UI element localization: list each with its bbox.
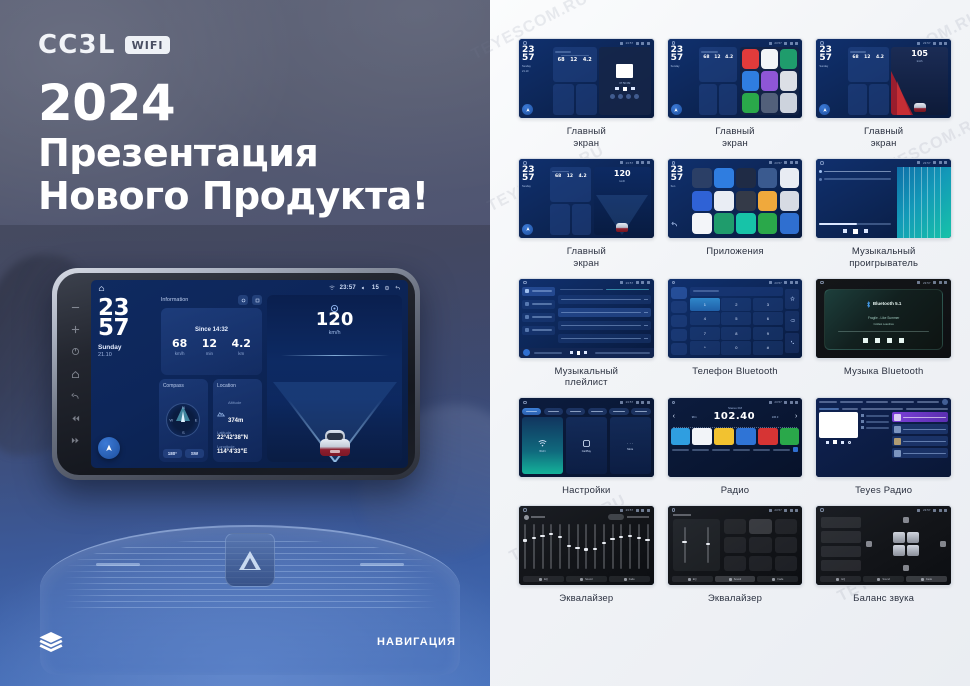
- thumb-equalizer-presets[interactable]: 23:57: [667, 505, 804, 586]
- layers-icon: [38, 631, 64, 653]
- nav-caption: НАВИГАЦИЯ: [377, 636, 456, 648]
- thumb-home-screen-media[interactable]: 23:57 2357Sunday21.10 68124.2: [518, 38, 655, 119]
- volume-plus-key[interactable]: [71, 325, 80, 334]
- tile-connection[interactable]: CarPlay: [566, 417, 607, 474]
- compass-readouts: 180° SW: [163, 449, 204, 458]
- eq-tab-fade[interactable]: Fade: [906, 576, 947, 582]
- preset-5[interactable]: [758, 428, 778, 445]
- thumb-home-screen-drive[interactable]: 23:57 2357Sunday 68124.2: [815, 38, 952, 119]
- settings-tabs[interactable]: [519, 406, 654, 417]
- headline-year: 2024: [38, 78, 458, 128]
- navigation-arrow-icon: [104, 443, 114, 453]
- grid-item[interactable]: 23:57 2357Sunday 68124.2: [815, 38, 952, 150]
- grid-item[interactable]: 23:57: [815, 505, 952, 605]
- thumb-music-player[interactable]: 23:57: [815, 158, 952, 239]
- head-unit-screen[interactable]: 23:57 15 23: [91, 280, 408, 468]
- thumb-caption: Главный экран: [567, 246, 606, 270]
- speed-limit-icon: [330, 300, 339, 309]
- drive-speed-105: 105: [891, 50, 948, 58]
- dashboard-scene: 23:57 15 23: [0, 225, 490, 686]
- altitude-label: Altitude: [228, 400, 241, 405]
- grid-item[interactable]: 23:57 2357Sun: [667, 158, 804, 270]
- prev-station-button[interactable]: ‹: [673, 413, 675, 420]
- link-icon: [582, 439, 591, 448]
- thumb-caption: Главный экран: [864, 126, 903, 150]
- prev-track-key[interactable]: [71, 414, 80, 423]
- presentation-slide: CC3L WIFI 2024 Презентация Нового Продук…: [0, 0, 970, 686]
- latitude-value: 22°42'38"N: [217, 435, 258, 441]
- driving-view-widget[interactable]: 120 km/h: [267, 295, 402, 462]
- back-arrow-icon[interactable]: [395, 285, 401, 291]
- grid-item[interactable]: 23:57 2357Sunday 68124.2: [667, 38, 804, 150]
- stop-icon: [887, 338, 892, 343]
- tab-display[interactable]: [566, 408, 585, 415]
- dashboard-vent-panel: [40, 525, 460, 675]
- tile-more[interactable]: · · · More: [610, 417, 651, 474]
- home-key[interactable]: [71, 370, 80, 379]
- status-bar: 23:57 15: [91, 280, 408, 295]
- clock-day: Sunday: [98, 344, 154, 351]
- drive-speed-unit: km/h: [267, 330, 402, 336]
- preset-3[interactable]: [714, 428, 734, 445]
- thumb-radio[interactable]: 23:57 Stereo FM ‹ 98.1 102.40 106.3 ›: [667, 397, 804, 478]
- grid-item[interactable]: 23:57: [815, 158, 952, 270]
- volume-icon: [361, 285, 367, 291]
- head-unit-side-keys: [65, 280, 85, 468]
- since-label: Since 14:32: [195, 327, 228, 333]
- stat-distance-unit: km: [231, 351, 251, 356]
- headline-line1: Презентация: [38, 132, 458, 175]
- trip-stats: 68 km/h 12 min: [165, 338, 258, 356]
- hazard-lights-button[interactable]: [225, 533, 275, 587]
- thumb-caption: Телефон Bluetooth: [692, 366, 778, 378]
- drive-hud: 120 km/h: [267, 300, 402, 336]
- radio-frequency: 102.40: [713, 411, 755, 422]
- compass-dial-wrap: N S E W: [163, 391, 204, 449]
- navigation-button-wrap: [98, 379, 154, 462]
- bluetooth-transport-controls[interactable]: [863, 338, 904, 343]
- location-altitude-row: Altitude 374m: [217, 391, 258, 427]
- balance-right-button[interactable]: [940, 541, 946, 547]
- location-widget[interactable]: Location Altitude 374m: [213, 379, 262, 462]
- eq-tab-fade[interactable]: Fade: [757, 576, 798, 582]
- location-latitude-row: Latitude 22°42'38"N: [217, 430, 258, 441]
- refresh-icon[interactable]: [238, 295, 248, 305]
- seat-diagram: [893, 532, 919, 556]
- headline-block: 2024 Презентация Нового Продукта!: [38, 78, 458, 218]
- clock-and-info-row: 23 57 Sunday 21.10 Information: [98, 295, 262, 375]
- equalizer-tabs[interactable]: EQ Sound Fade: [668, 575, 803, 585]
- screen-body: 23 57 Sunday 21.10 Information: [91, 295, 408, 468]
- stat-speed-unit: km/h: [172, 351, 187, 356]
- next-station-button[interactable]: ›: [795, 413, 797, 420]
- grid-item[interactable]: 23:57 Wi-Fi: [518, 397, 655, 497]
- preset-1[interactable]: [671, 428, 691, 445]
- thumb-caption: Эквалайзер: [559, 593, 613, 605]
- grid-item[interactable]: 23:57 Stereo FM ‹ 98.1 102.40 106.3 ›: [667, 397, 804, 497]
- tab-system[interactable]: [588, 408, 607, 415]
- wifi-badge: WIFI: [125, 36, 171, 54]
- horizon-line: [281, 355, 389, 356]
- thumb-bluetooth-music[interactable]: 23:57 Bluetooth 5.1 Fragile - Like Summe…: [815, 278, 952, 359]
- thumb-caption: Музыкальный проигрыватель: [849, 246, 918, 270]
- teyes-subtabs[interactable]: [816, 405, 951, 412]
- compass-needle: [181, 411, 185, 422]
- thumb-caption: Приложения: [706, 246, 764, 258]
- thumb-equalizer-bands[interactable]: 23:57: [518, 505, 655, 586]
- hazard-triangle-icon: [239, 551, 261, 570]
- thumb-applications[interactable]: 23:57 2357Sun: [667, 158, 804, 239]
- status-icons: 23:57 15: [329, 285, 401, 291]
- thumb-sound-balance[interactable]: 23:57: [815, 505, 952, 586]
- eq-tab-eq[interactable]: EQ: [820, 576, 861, 582]
- drive-speed-value: 120: [267, 311, 402, 329]
- thumb-caption: Главный экран: [715, 126, 754, 150]
- prev-icon: [863, 338, 868, 343]
- compass-dial: N S E W: [166, 403, 200, 437]
- altitude-value: 374m: [228, 418, 243, 424]
- clock-minutes: 57: [98, 319, 154, 339]
- feature-grid-panel: TEYESCOM.RU TEYESCOM.RU TEYESCOM.RU TEYE…: [490, 0, 970, 686]
- thumb-caption: Teyes Радио: [855, 485, 912, 497]
- stat-time-value: 12: [202, 338, 217, 349]
- thumb-caption: Эквалайзер: [708, 593, 762, 605]
- equalizer-tabs[interactable]: EQ Sound Fade: [816, 575, 951, 585]
- thumb-caption: Главный экран: [567, 126, 606, 150]
- mountain-icon: [217, 405, 225, 413]
- eq-tab-eq[interactable]: EQ: [523, 576, 564, 582]
- tile-wifi[interactable]: Wi-Fi: [522, 417, 563, 474]
- tab-apps[interactable]: [609, 408, 628, 415]
- power-key[interactable]: [71, 347, 80, 356]
- tab-about[interactable]: [631, 408, 650, 415]
- eq-tab-sound[interactable]: Sound: [715, 576, 756, 582]
- vent-slot-left: [96, 563, 140, 566]
- next-icon: [899, 338, 904, 343]
- information-widget[interactable]: Information Since 14:32: [161, 295, 262, 375]
- brand-name: CC3L: [38, 30, 116, 60]
- volume-minus-key[interactable]: [71, 303, 80, 312]
- thumb-caption: Настройки: [562, 485, 610, 497]
- location-longitude-row: Longitude 114°4'33"E: [217, 444, 258, 455]
- lower-widgets-row: Compass N S E: [98, 379, 262, 462]
- grid-item[interactable]: 23:57 2357Sunday21.10 68124.2: [518, 38, 655, 150]
- gear-icon[interactable]: [384, 285, 390, 291]
- teyes-toolbar[interactable]: [816, 398, 951, 405]
- balance-front-button[interactable]: [903, 517, 909, 523]
- thumb-home-screen-nav[interactable]: 23:57 2357Sunday 68124.2: [518, 158, 655, 239]
- grid-item[interactable]: Teyes Радио: [815, 397, 952, 497]
- stat-time-unit: min: [202, 351, 217, 356]
- stat-distance: 4.2 km: [231, 338, 251, 356]
- stat-time: 12 min: [202, 338, 217, 356]
- thumb-caption: Баланс звука: [853, 593, 914, 605]
- settings-tiles: Wi-Fi CarPlay · · · More: [519, 417, 654, 477]
- thumb-teyes-radio[interactable]: [815, 397, 952, 478]
- thumb-bluetooth-phone[interactable]: 23:57: [667, 278, 804, 359]
- grid-item[interactable]: 23:57: [518, 505, 655, 605]
- compass-title: Compass: [163, 383, 204, 389]
- status-volume: 15: [372, 285, 379, 291]
- wifi-icon: [329, 285, 335, 291]
- thumb-settings[interactable]: 23:57 Wi-Fi: [518, 397, 655, 478]
- compass-label-w: W: [169, 418, 173, 423]
- compass-label-s: S: [182, 430, 185, 435]
- balance-left-button[interactable]: [866, 541, 872, 547]
- thumbnail-grid: 23:57 2357Sunday21.10 68124.2: [518, 38, 952, 605]
- equalizer-tabs[interactable]: EQ Sound Fade: [519, 575, 654, 585]
- clock-widget[interactable]: 23 57 Sunday 21.10: [98, 295, 154, 375]
- grid-item[interactable]: 23:57 2357Sunday 68124.2: [518, 158, 655, 270]
- compass-heading: 180°: [163, 449, 182, 458]
- location-title: Location: [217, 383, 258, 389]
- brand-logo: CC3L WIFI: [38, 30, 170, 60]
- navigation-button[interactable]: [98, 437, 120, 459]
- left-hero-panel: CC3L WIFI 2024 Презентация Нового Продук…: [0, 0, 490, 686]
- stat-distance-value: 4.2: [231, 338, 251, 349]
- status-time: 23:57: [340, 285, 356, 291]
- eq-tab-sound[interactable]: Sound: [863, 576, 904, 582]
- radio-presets[interactable]: [668, 428, 803, 445]
- clock-date: 21.10: [98, 352, 154, 358]
- thumb-caption: Радио: [721, 485, 749, 497]
- head-unit-inner: 23:57 15 23: [57, 273, 415, 475]
- thumb-home-screen-apps[interactable]: 23:57 2357Sunday 68124.2: [667, 38, 804, 119]
- thumb-caption: Музыкальный плейлист: [554, 366, 618, 390]
- bluetooth-version: Bluetooth 5.1: [873, 301, 902, 306]
- tab-sound[interactable]: [544, 408, 563, 415]
- longitude-value: 114°4'33"E: [217, 449, 258, 455]
- eq-tab-sound[interactable]: Sound: [566, 576, 607, 582]
- wifi-icon: [538, 439, 547, 448]
- vent-slot-right: [360, 563, 404, 566]
- equalizer-sliders[interactable]: [519, 520, 654, 575]
- call-icon[interactable]: [785, 333, 799, 353]
- stat-speed-value: 68: [172, 338, 187, 349]
- grid-item[interactable]: 23:57 Bluetooth 5.1 Fragile - Like Summe…: [815, 278, 952, 390]
- thumb-caption: Музыка Bluetooth: [844, 366, 924, 378]
- home-icon[interactable]: [98, 280, 105, 297]
- compass-label-e: E: [195, 418, 198, 423]
- information-title: Information: [161, 297, 189, 303]
- grid-item[interactable]: 23:57: [667, 278, 804, 390]
- screen-left-column: 23 57 Sunday 21.10 Information: [98, 295, 262, 462]
- lead-car-graphic: [320, 430, 350, 456]
- eq-tab-fade[interactable]: Fade: [609, 576, 650, 582]
- favorite-icon[interactable]: [785, 289, 799, 309]
- preset-4[interactable]: [736, 428, 756, 445]
- information-actions: [238, 295, 262, 305]
- headline-line2: Нового Продукта!: [38, 175, 458, 218]
- next-track-key[interactable]: [71, 436, 80, 445]
- bluetooth-card: Bluetooth 5.1 Fragile - Like Summer Cold…: [824, 289, 943, 350]
- stat-speed: 68 km/h: [172, 338, 187, 356]
- preset-2[interactable]: [692, 428, 712, 445]
- compass-direction: SW: [185, 449, 204, 458]
- backspace-icon[interactable]: [785, 311, 799, 331]
- teyes-album-art: [819, 412, 858, 474]
- head-unit-bezel: 23:57 15 23: [52, 268, 420, 480]
- information-card: Since 14:32 68 km/h 12: [161, 308, 262, 375]
- bluetooth-icon: [866, 295, 871, 313]
- eq-tab-eq[interactable]: EQ: [672, 576, 713, 582]
- teyes-station-list[interactable]: [892, 412, 948, 474]
- back-key[interactable]: [71, 392, 80, 401]
- thumb-music-playlist[interactable]: 23:57: [518, 278, 655, 359]
- tab-wifi[interactable]: [522, 408, 541, 415]
- compass-label-n: N: [182, 405, 185, 410]
- compass-widget[interactable]: Compass N S E: [159, 379, 208, 462]
- expand-icon[interactable]: [252, 295, 262, 305]
- preset-6[interactable]: [780, 428, 800, 445]
- information-header: Information: [161, 295, 262, 305]
- play-pause-icon: [875, 338, 880, 343]
- grid-item[interactable]: 23:57: [518, 278, 655, 390]
- balance-rear-button[interactable]: [903, 565, 909, 571]
- grid-item[interactable]: 23:57: [667, 505, 804, 605]
